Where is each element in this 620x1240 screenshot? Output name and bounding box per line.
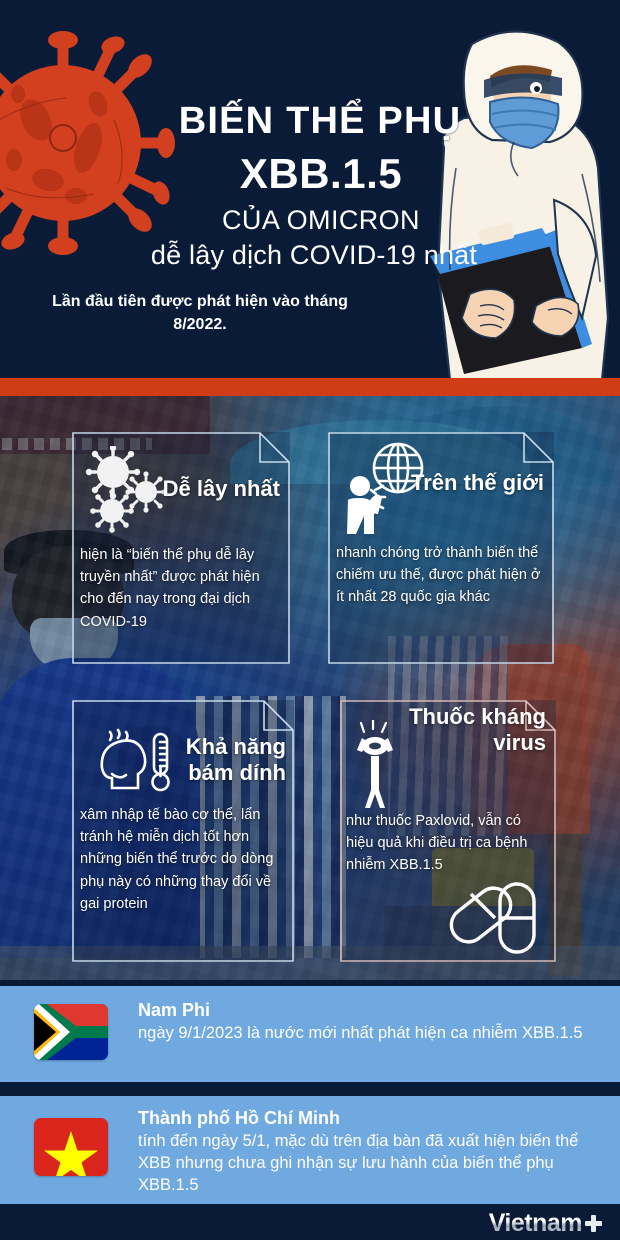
card-title: Dễ lây nhất — [130, 476, 280, 502]
card-body: như thuốc Paxlovid, vẫn có hiệu quả khi … — [346, 810, 552, 877]
accent-divider-bar — [0, 378, 620, 396]
infographic-page: BIẾN THỂ PHỤ XBB.1.5 CỦA OMICRON dễ lây … — [0, 0, 620, 1240]
header-subtitle: Lần đầu tiên được phát hiện vào tháng 8/… — [30, 290, 370, 336]
info-row-text: tính đến ngày 5/1, mặc dù trên địa bàn đ… — [138, 1131, 588, 1197]
footer-bar: Vietnam — [0, 1204, 620, 1240]
logo-text: Vietnam — [489, 1209, 582, 1238]
south-africa-flag — [34, 1004, 108, 1060]
header-title-line3: CỦA OMICRON — [0, 205, 620, 236]
fact-card-kha-nang-bam-dinh: Khả năng bám dính xâm nhập tế bào cơ thể… — [72, 700, 294, 962]
info-row-ho-chi-minh-city: Thành phố Hồ Chí Minh tính đến ngày 5/1,… — [0, 1096, 620, 1204]
vietnamplus-logo: Vietnam — [489, 1209, 602, 1238]
info-row-name: Nam Phi — [138, 1000, 210, 1021]
card-title: Khả năng bám dính — [136, 734, 286, 785]
header-title-line1: BIẾN THỂ PHỤ — [0, 100, 620, 143]
header-title-line4: dễ lây dịch COVID-19 nhất — [0, 240, 620, 271]
row-divider — [0, 1082, 620, 1096]
card-body: xâm nhập tế bào cơ thể, lẩn tránh hệ miễ… — [80, 804, 288, 915]
pills-capsules-icon — [446, 876, 550, 956]
person-headache-icon — [344, 720, 406, 808]
plus-icon — [585, 1215, 602, 1232]
header-banner: BIẾN THỂ PHỤ XBB.1.5 CỦA OMICRON dễ lây … — [0, 0, 620, 378]
header-title-line2: XBB.1.5 — [0, 150, 620, 198]
card-body: hiện là “biến thể phụ dễ lây truyền nhất… — [80, 544, 286, 633]
card-body: nhanh chóng trở thành biến thể chiếm ưu … — [336, 542, 551, 609]
info-row-text: ngày 9/1/2023 là nước mới nhất phát hiện… — [138, 1023, 588, 1045]
info-row-name: Thành phố Hồ Chí Minh — [138, 1108, 340, 1129]
vietnam-flag — [34, 1118, 108, 1176]
fact-card-thuoc-khang-virus: Thuốc kháng virus như thuốc Paxlovid, vẫ… — [340, 700, 556, 962]
info-row-south-africa: Nam Phi ngày 9/1/2023 là nước mới nhất p… — [0, 986, 620, 1082]
card-title: Trên thế giới — [394, 470, 544, 496]
fact-card-tren-the-gioi: Trên thế giới nhanh chóng trở thành biến… — [328, 432, 554, 664]
card-title: Thuốc kháng virus — [406, 704, 546, 755]
fact-card-de-lay-nhat: Dễ lây nhất hiện là “biến thể phụ dễ lây… — [72, 432, 290, 664]
